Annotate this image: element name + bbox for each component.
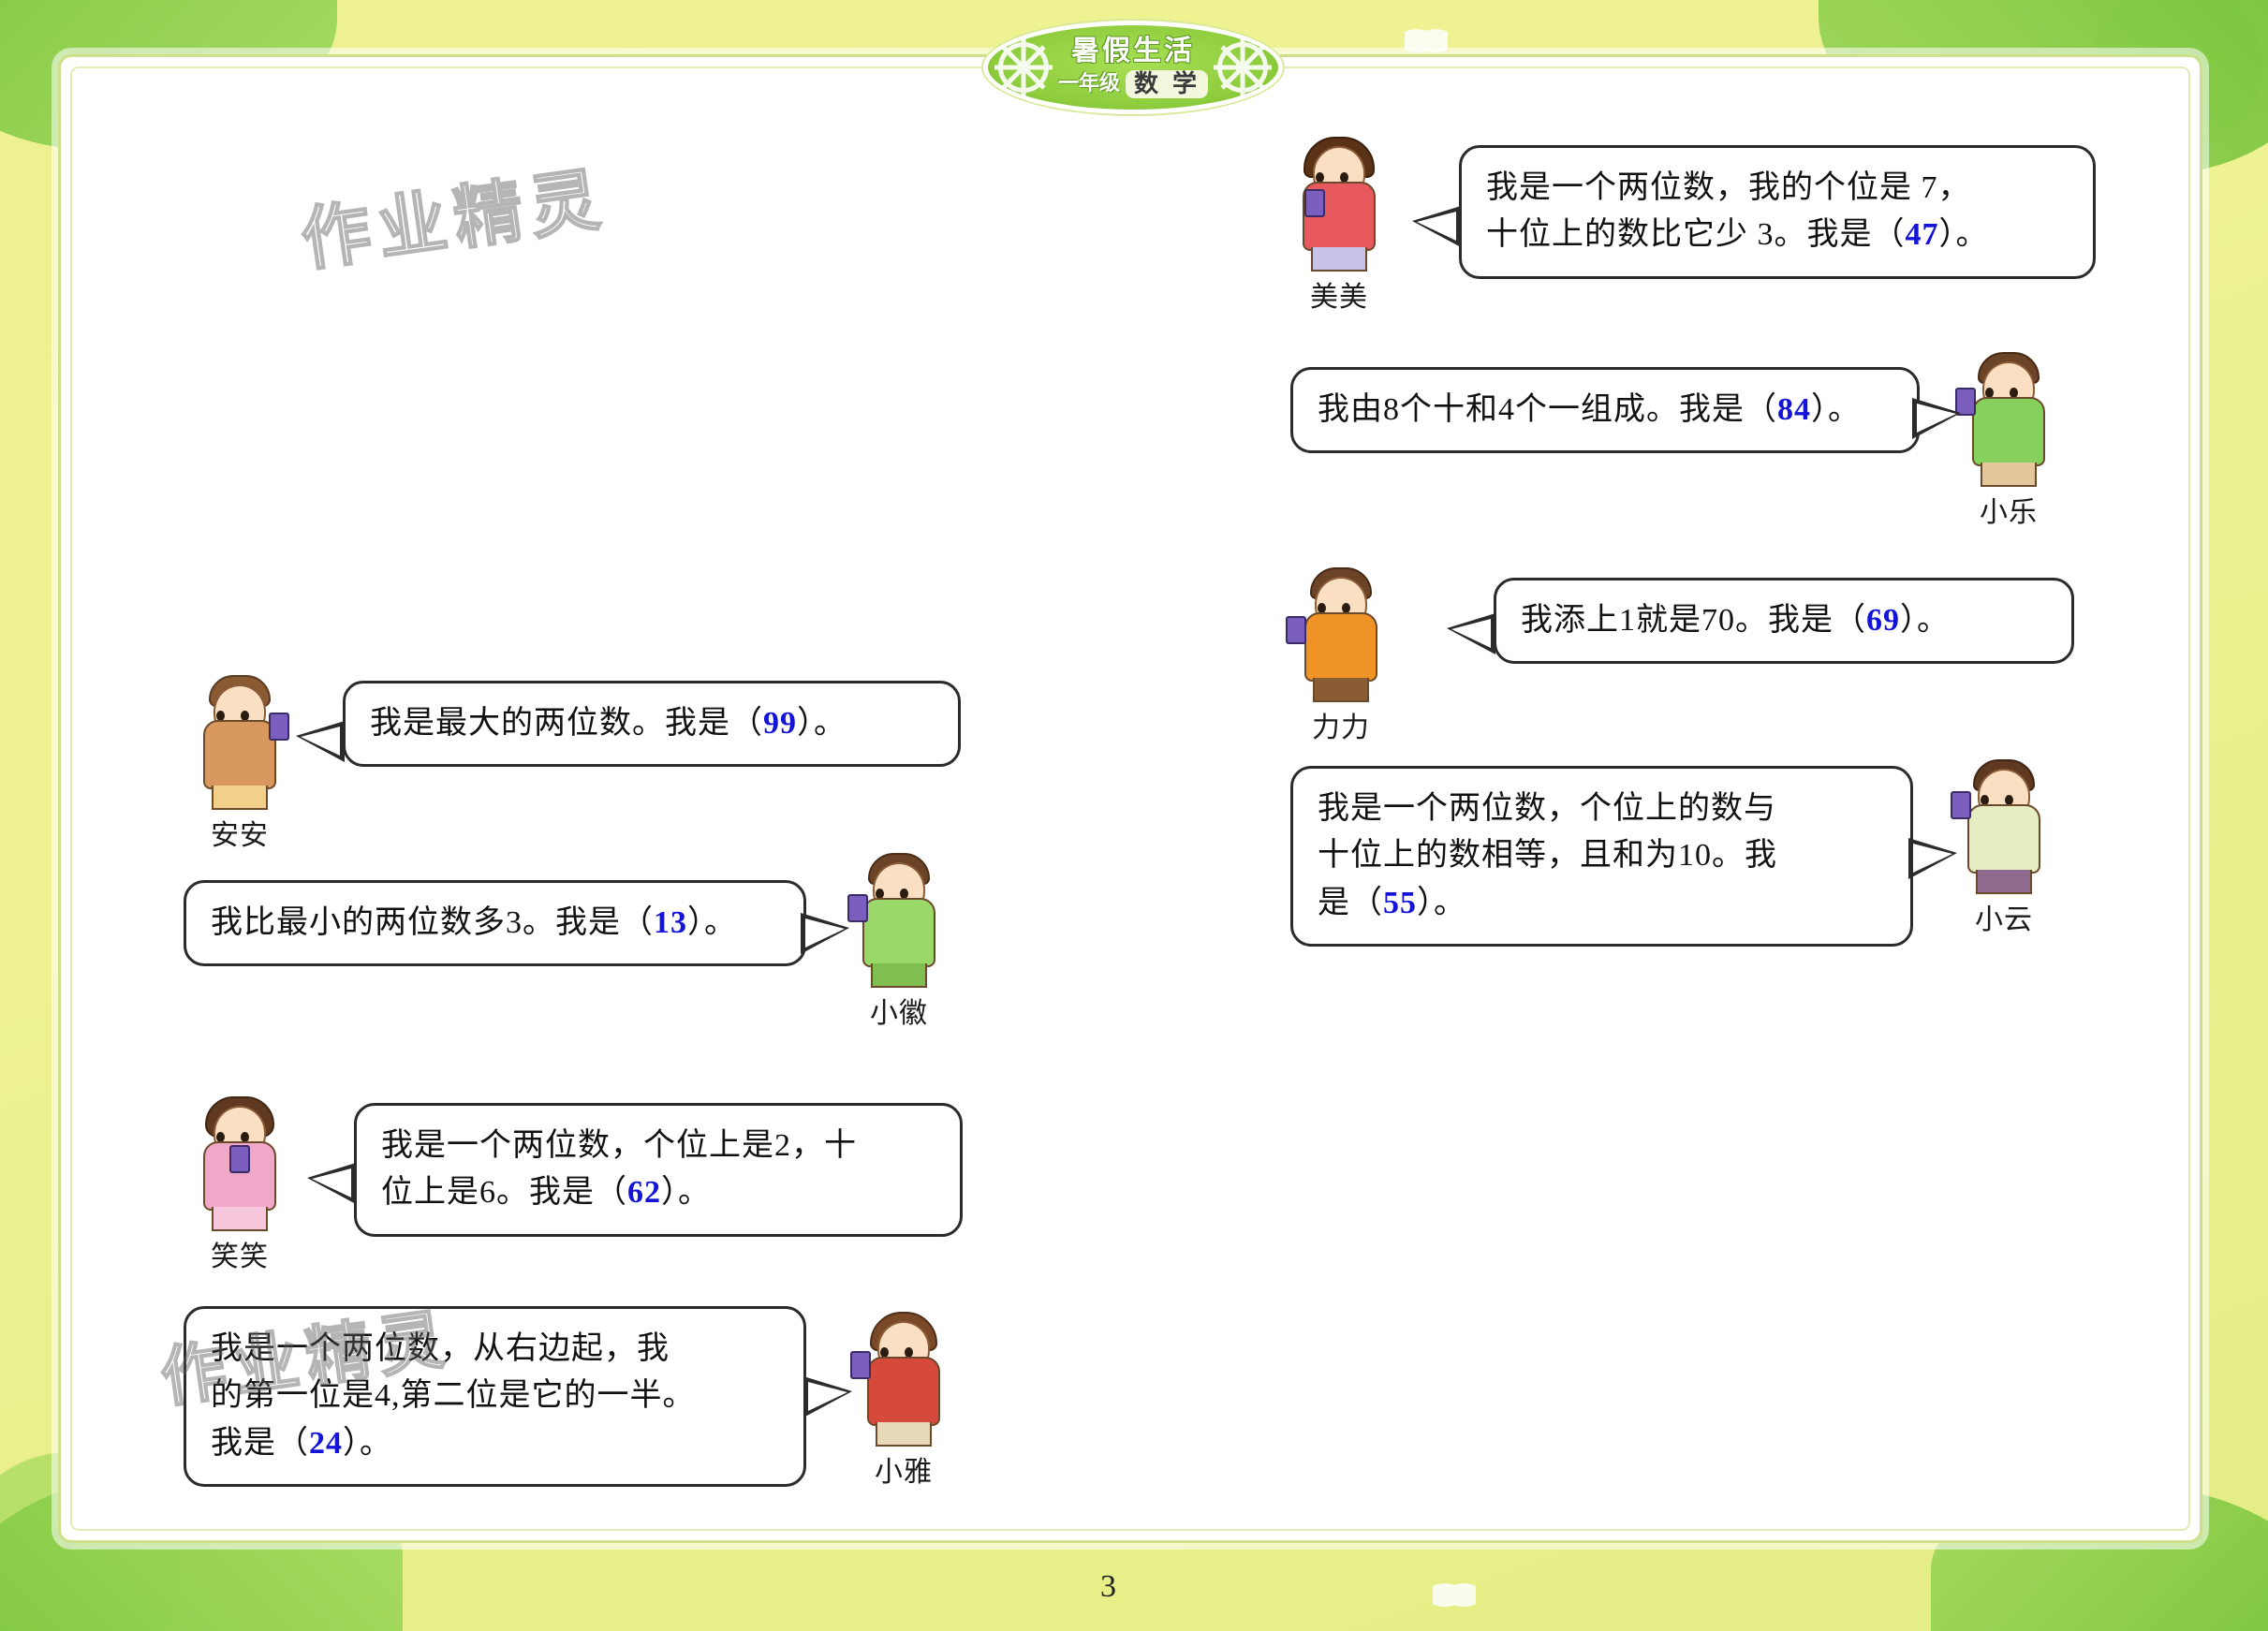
bubble-text-end: ）。 bbox=[661, 1175, 711, 1210]
bubble-tail bbox=[1412, 206, 1461, 247]
bubble-answer: 84 bbox=[1777, 392, 1811, 427]
torso-icon bbox=[867, 1357, 940, 1426]
character-illustration bbox=[1957, 346, 2060, 487]
badge-subject: 数 学 bbox=[1126, 70, 1208, 98]
character-name: 美美 bbox=[1283, 273, 1395, 315]
character-illustration bbox=[188, 669, 291, 810]
butterfly-icon bbox=[1433, 1582, 1476, 1614]
bubble-text-end: ）。 bbox=[1900, 603, 1950, 638]
bubble-answer: 13 bbox=[654, 905, 687, 940]
number-card-icon bbox=[1951, 791, 1971, 819]
number-card-icon bbox=[269, 713, 289, 741]
legs-icon bbox=[1313, 678, 1369, 702]
torso-icon bbox=[203, 720, 276, 789]
bubble-text: 我添上1就是70。我是（ bbox=[1521, 603, 1866, 638]
character-illustration bbox=[847, 847, 950, 988]
speech-bubble-xiaoxiao: 我是一个两位数，个位上是2，十 位上是6。我是（62）。 bbox=[354, 1103, 963, 1237]
bubble-tail bbox=[1908, 838, 1957, 879]
torso-icon bbox=[1972, 397, 2045, 466]
badge-subtitle-row: 一年级 数 学 bbox=[1058, 70, 1208, 98]
bubble-answer: 69 bbox=[1866, 603, 1900, 638]
bubble-tail bbox=[307, 1163, 356, 1204]
legs-icon bbox=[871, 963, 927, 988]
character-name: 力力 bbox=[1285, 704, 1397, 745]
bubble-line: 我是一个两位数，从右边起，我 bbox=[211, 1326, 779, 1373]
bubble-line: 十位上的数比它少 3。我是（47）。 bbox=[1486, 212, 2069, 258]
legs-icon bbox=[1976, 870, 2032, 894]
badge-text-group: 暑假生活 一年级 数 学 bbox=[1058, 37, 1208, 98]
number-card-icon bbox=[847, 894, 868, 922]
bubble-answer: 55 bbox=[1383, 886, 1417, 920]
speech-bubble-xiaoya: 我是一个两位数，从右边起，我 的第一位是4,第二位是它的一半。 我是（24）。 bbox=[184, 1306, 806, 1487]
legs-icon bbox=[212, 1207, 268, 1231]
bubble-tail bbox=[1912, 398, 1961, 439]
character-name: 小云 bbox=[1948, 896, 2060, 937]
page-number: 3 bbox=[1100, 1569, 1116, 1605]
bubble-text: 我比最小的两位数多3。我是（ bbox=[211, 905, 654, 940]
character-meimei: 美美 bbox=[1283, 131, 1395, 315]
speech-bubble-xiaohui: 我比最小的两位数多3。我是（13）。 bbox=[184, 880, 806, 966]
bubble-text-end: ）。 bbox=[687, 905, 737, 940]
character-xiaole: 小乐 bbox=[1952, 346, 2065, 530]
header-badge: 暑假生活 一年级 数 学 bbox=[983, 21, 1283, 114]
character-name: 小雅 bbox=[847, 1448, 960, 1490]
badge-title: 暑假生活 bbox=[1058, 37, 1208, 66]
bubble-text-end: ）。 bbox=[1811, 392, 1861, 427]
number-card-icon bbox=[229, 1145, 250, 1173]
speech-bubble-lili: 我添上1就是70。我是（69）。 bbox=[1494, 578, 2074, 664]
speech-bubble-meimei: 我是一个两位数，我的个位是 7， 十位上的数比它少 3。我是（47）。 bbox=[1459, 145, 2096, 279]
bubble-text: 位上是6。我是（ bbox=[381, 1175, 627, 1210]
bubble-tail bbox=[1447, 613, 1495, 654]
bubble-text: 十位上的数比它少 3。我是（ bbox=[1486, 217, 1906, 252]
bubble-line: 位上是6。我是（62）。 bbox=[381, 1169, 935, 1216]
ship-wheel-icon bbox=[998, 42, 1049, 93]
legs-icon bbox=[876, 1422, 932, 1447]
badge-grade: 一年级 bbox=[1058, 74, 1120, 95]
character-illustration bbox=[1288, 131, 1391, 272]
bubble-answer: 99 bbox=[763, 706, 797, 741]
bubble-answer: 62 bbox=[627, 1175, 661, 1210]
bubble-text: 是（ bbox=[1318, 886, 1383, 920]
character-illustration bbox=[1289, 562, 1392, 702]
legs-icon bbox=[212, 786, 268, 810]
speech-bubble-anan: 我是最大的两位数。我是（99）。 bbox=[343, 681, 961, 767]
bubble-tail bbox=[803, 1376, 852, 1418]
bubble-line: 我是一个两位数，我的个位是 7， bbox=[1486, 165, 2069, 212]
character-illustration bbox=[188, 1091, 291, 1231]
bubble-text-end: ）。 bbox=[1417, 886, 1466, 920]
character-name: 小徽 bbox=[843, 990, 955, 1031]
bubble-tail bbox=[801, 913, 849, 954]
bubble-line: 是（55）。 bbox=[1318, 880, 1886, 927]
character-xiaohui: 小徽 bbox=[843, 847, 955, 1031]
bubble-tail bbox=[296, 721, 345, 762]
number-card-icon bbox=[850, 1351, 871, 1379]
bubble-text: 我是最大的两位数。我是（ bbox=[370, 706, 763, 741]
bubble-line: 我是一个两位数，个位上是2，十 bbox=[381, 1123, 935, 1169]
bubble-text: 我由8个十和4个一组成。我是（ bbox=[1318, 392, 1777, 427]
bubble-line: 十位上的数相等，且和为10。我 bbox=[1318, 832, 1886, 879]
torso-icon bbox=[1304, 612, 1377, 682]
bubble-line: 我是一个两位数，个位上的数与 bbox=[1318, 786, 1886, 832]
number-card-icon bbox=[1304, 189, 1325, 217]
character-illustration bbox=[852, 1306, 955, 1447]
ship-wheel-icon bbox=[1217, 42, 1268, 93]
character-name: 笑笑 bbox=[184, 1233, 296, 1274]
character-lili: 力力 bbox=[1285, 562, 1397, 745]
bubble-line: 我是（24）。 bbox=[211, 1420, 779, 1467]
number-card-icon bbox=[1286, 616, 1306, 644]
character-xiaoya: 小雅 bbox=[847, 1306, 960, 1490]
character-name: 小乐 bbox=[1952, 489, 2065, 530]
character-xiaoxiao: 笑笑 bbox=[184, 1091, 296, 1274]
torso-icon bbox=[862, 898, 935, 967]
character-anan: 安安 bbox=[184, 669, 296, 853]
bubble-text-end: ）。 bbox=[797, 706, 847, 741]
character-xiaoyun: 小云 bbox=[1948, 754, 2060, 937]
bubble-answer: 24 bbox=[309, 1426, 343, 1461]
character-name: 安安 bbox=[184, 812, 296, 853]
character-illustration bbox=[1952, 754, 2055, 894]
speech-bubble-xiaole: 我由8个十和4个一组成。我是（84）。 bbox=[1290, 367, 1920, 453]
legs-icon bbox=[1981, 463, 2037, 487]
speech-bubble-xiaoyun: 我是一个两位数，个位上的数与 十位上的数相等，且和为10。我 是（55）。 bbox=[1290, 766, 1913, 947]
bubble-text-end: ）。 bbox=[1939, 217, 1989, 252]
bubble-answer: 47 bbox=[1906, 217, 1939, 252]
bubble-line: 的第一位是4,第二位是它的一半。 bbox=[211, 1373, 779, 1419]
bubble-text-end: ）。 bbox=[343, 1426, 392, 1461]
legs-icon bbox=[1311, 247, 1367, 272]
bubble-text: 我是（ bbox=[211, 1426, 309, 1461]
torso-icon bbox=[1967, 804, 2040, 874]
